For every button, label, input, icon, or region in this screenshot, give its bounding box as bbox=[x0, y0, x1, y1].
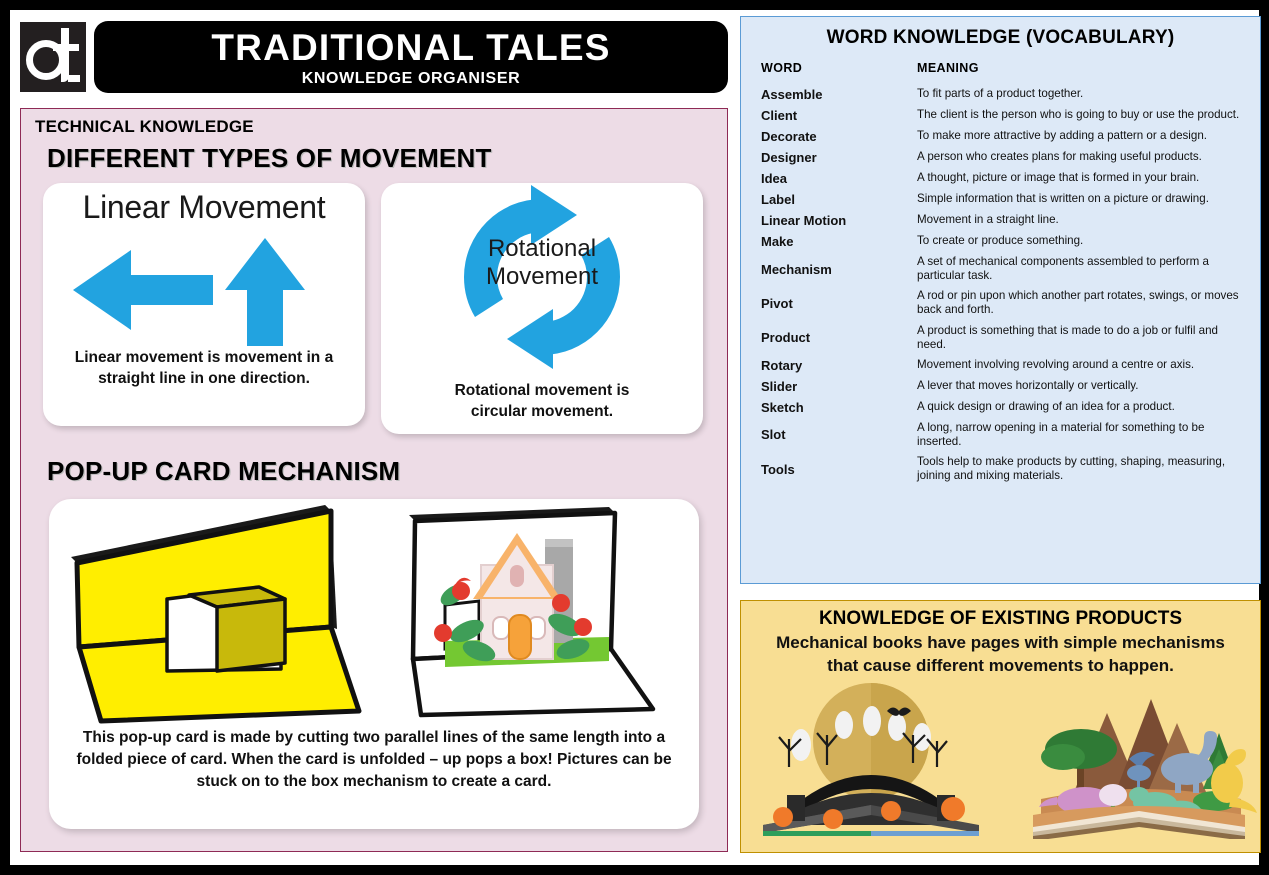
vocabulary-row: MakeTo create or produce something. bbox=[749, 231, 1252, 252]
linear-movement-card: Linear Movement Linear movement is movem… bbox=[43, 183, 365, 426]
pumpkin-icon bbox=[881, 801, 901, 821]
column-header-meaning: MEANING bbox=[917, 59, 1252, 84]
vocabulary-word: Product bbox=[749, 321, 917, 355]
vocabulary-word: Sketch bbox=[749, 397, 917, 418]
halloween-popup-book-illustration bbox=[763, 683, 979, 836]
vocabulary-meaning: A thought, picture or image that is form… bbox=[917, 168, 1252, 189]
existing-products-subtitle-line2: that cause different movements to happen… bbox=[751, 655, 1250, 676]
popup-card-illustration-card: This pop-up card is made by cutting two … bbox=[49, 499, 699, 829]
up-arrow-icon bbox=[225, 238, 305, 346]
vocabulary-word: Pivot bbox=[749, 286, 917, 320]
vocabulary-row: RotaryMovement involving revolving aroun… bbox=[749, 355, 1252, 376]
vocabulary-meaning: To make more attractive by adding a patt… bbox=[917, 126, 1252, 147]
technical-knowledge-label: TECHNICAL KNOWLEDGE bbox=[35, 117, 727, 137]
existing-products-title: KNOWLEDGE OF EXISTING PRODUCTS bbox=[741, 608, 1260, 630]
vocabulary-row: ClientThe client is the person who is go… bbox=[749, 105, 1252, 126]
pumpkin-icon bbox=[773, 807, 793, 827]
rotational-title-line1: Rotational bbox=[381, 235, 703, 263]
word-knowledge-panel: WORD KNOWLEDGE (VOCABULARY) WORD MEANING… bbox=[740, 16, 1261, 584]
page-header: TRADITIONAL TALES KNOWLEDGE ORGANISER bbox=[20, 16, 728, 98]
vocabulary-panel-title: WORD KNOWLEDGE (VOCABULARY) bbox=[749, 27, 1252, 49]
vocabulary-meaning: A product is something that is made to d… bbox=[917, 321, 1252, 355]
vocabulary-word: Assemble bbox=[749, 84, 917, 105]
popup-card-caption: This pop-up card is made by cutting two … bbox=[61, 727, 687, 793]
dinosaur-popup-book-illustration bbox=[1033, 699, 1257, 839]
linear-movement-caption: Linear movement is movement in a straigh… bbox=[43, 348, 365, 390]
popup-illustrations-svg bbox=[49, 499, 699, 729]
vocabulary-row: DecorateTo make more attractive by addin… bbox=[749, 126, 1252, 147]
vocabulary-meaning: A person who creates plans for making us… bbox=[917, 147, 1252, 168]
vocabulary-row: PivotA rod or pin upon which another par… bbox=[749, 286, 1252, 320]
popup-card-heading: POP-UP CARD MECHANISM bbox=[47, 456, 727, 487]
vocabulary-meaning: A lever that moves horizontally or verti… bbox=[917, 376, 1252, 397]
movement-cards-row: Linear Movement Linear movement is movem… bbox=[43, 183, 711, 434]
existing-products-illustrations bbox=[741, 679, 1260, 839]
vocabulary-meaning: A rod or pin upon which another part rot… bbox=[917, 286, 1252, 320]
vocabulary-word: Decorate bbox=[749, 126, 917, 147]
vocabulary-word: Rotary bbox=[749, 355, 917, 376]
vocabulary-row: IdeaA thought, picture or image that is … bbox=[749, 168, 1252, 189]
vocabulary-meaning: Movement involving revolving around a ce… bbox=[917, 355, 1252, 376]
yellow-popup-card-diagram bbox=[71, 505, 359, 721]
knowledge-organiser-page: TRADITIONAL TALES KNOWLEDGE ORGANISER TE… bbox=[0, 0, 1269, 875]
vocabulary-meaning: The client is the person who is going to… bbox=[917, 105, 1252, 126]
vocabulary-word: Tools bbox=[749, 452, 917, 486]
vocabulary-word: Mechanism bbox=[749, 252, 917, 286]
vocabulary-row: SketchA quick design or drawing of an id… bbox=[749, 397, 1252, 418]
products-illustrations-svg bbox=[741, 679, 1261, 839]
rotational-title-line2: Movement bbox=[381, 263, 703, 291]
vocabulary-row: ProductA product is something that is ma… bbox=[749, 321, 1252, 355]
rotational-caption-line1: Rotational movement is bbox=[395, 381, 689, 402]
rotational-movement-title: Rotational Movement bbox=[381, 235, 703, 292]
vocabulary-word: Linear Motion bbox=[749, 210, 917, 231]
logo-t-foot bbox=[68, 75, 80, 82]
pumpkin-icon bbox=[823, 809, 843, 829]
left-column: TRADITIONAL TALES KNOWLEDGE ORGANISER TE… bbox=[14, 14, 730, 855]
vocabulary-header-row: WORD MEANING bbox=[749, 59, 1252, 84]
vocabulary-row: SliderA lever that moves horizontally or… bbox=[749, 376, 1252, 397]
house-popup-card-diagram bbox=[409, 507, 653, 715]
linear-movement-title: Linear Movement bbox=[43, 183, 365, 226]
title-banner: TRADITIONAL TALES KNOWLEDGE ORGANISER bbox=[94, 21, 728, 93]
linear-arrows-illustration bbox=[43, 228, 365, 348]
vocabulary-meaning: To fit parts of a product together. bbox=[917, 84, 1252, 105]
vocabulary-meaning: Tools help to make products by cutting, … bbox=[917, 452, 1252, 486]
rotational-caption-line2: circular movement. bbox=[395, 402, 689, 423]
vocabulary-meaning: A long, narrow opening in a material for… bbox=[917, 418, 1252, 452]
vocabulary-row: DesignerA person who creates plans for m… bbox=[749, 147, 1252, 168]
vocabulary-row: MechanismA set of mechanical components … bbox=[749, 252, 1252, 286]
rotational-arrows-illustration: Rotational Movement bbox=[381, 183, 703, 379]
pumpkin-icon bbox=[941, 797, 965, 821]
vocabulary-word: Designer bbox=[749, 147, 917, 168]
vocabulary-word: Idea bbox=[749, 168, 917, 189]
popup-illustrations bbox=[49, 499, 699, 729]
vocabulary-meaning: A quick design or drawing of an idea for… bbox=[917, 397, 1252, 418]
vocabulary-row: ToolsTools help to make products by cutt… bbox=[749, 452, 1252, 486]
vocabulary-row: Linear MotionMovement in a straight line… bbox=[749, 210, 1252, 231]
vocabulary-row: AssembleTo fit parts of a product togeth… bbox=[749, 84, 1252, 105]
technical-knowledge-panel: TECHNICAL KNOWLEDGE DIFFERENT TYPES OF M… bbox=[20, 108, 728, 852]
rotational-movement-card: Rotational Movement Rotational movement … bbox=[381, 183, 703, 434]
existing-products-panel: KNOWLEDGE OF EXISTING PRODUCTS Mechanica… bbox=[740, 600, 1261, 853]
existing-products-subtitle-line1: Mechanical books have pages with simple … bbox=[751, 632, 1250, 653]
right-column: WORD KNOWLEDGE (VOCABULARY) WORD MEANING… bbox=[732, 14, 1263, 855]
vocabulary-table: WORD MEANING AssembleTo fit parts of a p… bbox=[749, 59, 1252, 486]
vocabulary-meaning: Movement in a straight line. bbox=[917, 210, 1252, 231]
left-arrow-icon bbox=[73, 250, 213, 330]
linear-arrows-svg bbox=[43, 228, 365, 348]
vocabulary-meaning: A set of mechanical components assembled… bbox=[917, 252, 1252, 286]
vocabulary-meaning: Simple information that is written on a … bbox=[917, 189, 1252, 210]
vocabulary-word: Slider bbox=[749, 376, 917, 397]
vocabulary-meaning: To create or produce something. bbox=[917, 231, 1252, 252]
vocabulary-word: Client bbox=[749, 105, 917, 126]
vocabulary-word: Label bbox=[749, 189, 917, 210]
column-header-word: WORD bbox=[749, 59, 917, 84]
page-title: TRADITIONAL TALES bbox=[211, 29, 610, 66]
vocabulary-word: Make bbox=[749, 231, 917, 252]
movement-section-heading: DIFFERENT TYPES OF MOVEMENT bbox=[47, 143, 727, 174]
rotational-movement-caption: Rotational movement is circular movement… bbox=[381, 379, 703, 423]
vocabulary-row: SlotA long, narrow opening in a material… bbox=[749, 418, 1252, 452]
logo-t-stem bbox=[61, 28, 69, 82]
dt-logo-icon bbox=[20, 22, 86, 92]
vocabulary-row: LabelSimple information that is written … bbox=[749, 189, 1252, 210]
vocabulary-word: Slot bbox=[749, 418, 917, 452]
logo-t-bar bbox=[53, 44, 79, 51]
page-subtitle: KNOWLEDGE ORGANISER bbox=[302, 71, 521, 87]
